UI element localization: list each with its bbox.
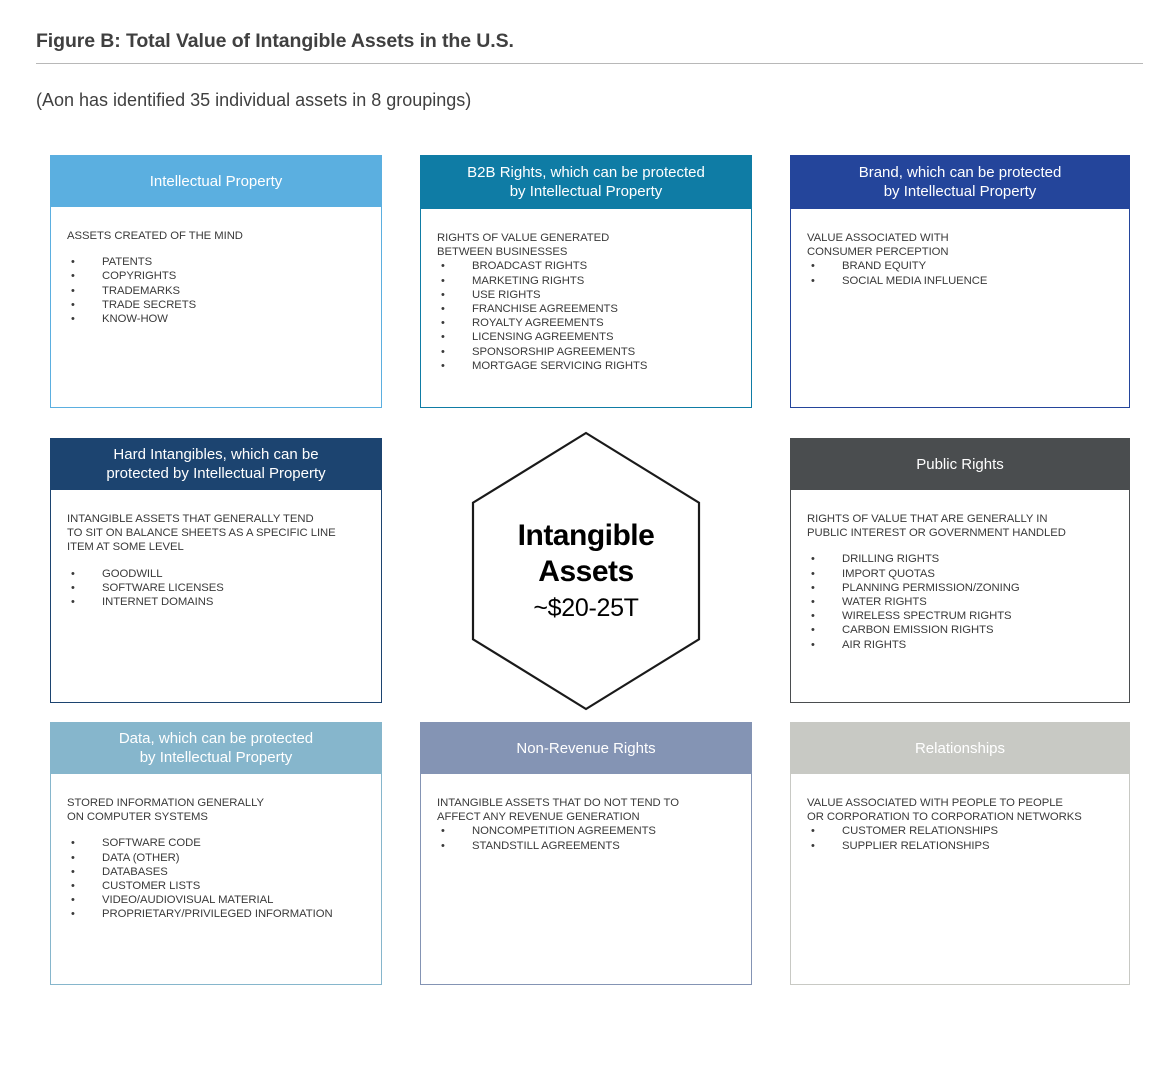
list-item-label: DATABASES <box>102 866 168 878</box>
list-item: •DATA (OTHER) <box>67 851 381 865</box>
center-label-line1: Intangible <box>518 518 655 554</box>
box-body: ASSETS CREATED OF THE MIND •PATENTS•COPY… <box>51 207 381 407</box>
bullet-icon: • <box>441 316 445 330</box>
list-item: •TRADE SECRETS <box>67 298 381 312</box>
grid-cell-7: Data, which can be protectedby Intellect… <box>50 722 382 985</box>
list-item-label: DRILLING RIGHTS <box>842 553 939 565</box>
list-item: •CUSTOMER LISTS <box>67 879 381 893</box>
asset-box-relationships[interactable]: Relationships VALUE ASSOCIATED WITH PEOP… <box>790 722 1130 985</box>
list-item-label: CUSTOMER RELATIONSHIPS <box>842 825 998 837</box>
bullet-icon: • <box>71 567 75 581</box>
asset-box-b2b-rights[interactable]: B2B Rights, which can be protectedby Int… <box>420 155 752 408</box>
list-item-label: PROPRIETARY/PRIVILEGED INFORMATION <box>102 908 333 920</box>
list-item: •SOFTWARE CODE <box>67 836 381 850</box>
list-item: •NONCOMPETITION AGREEMENTS <box>437 824 751 838</box>
grid-cell-4: Hard Intangibles, which can beprotected … <box>50 438 382 703</box>
box-description: VALUE ASSOCIATED WITH PEOPLE TO PEOPLE O… <box>807 796 1129 824</box>
list-item: •USE RIGHTS <box>437 288 751 302</box>
box-body: RIGHTS OF VALUE GENERATED BETWEEN BUSINE… <box>421 209 751 407</box>
box-header: Data, which can be protectedby Intellect… <box>51 723 381 774</box>
bullet-icon: • <box>811 824 815 838</box>
box-description: RIGHTS OF VALUE GENERATED BETWEEN BUSINE… <box>437 231 751 259</box>
list-item: •FRANCHISE AGREEMENTS <box>437 302 751 316</box>
list-item-label: GOODWILL <box>102 568 163 580</box>
box-description: ASSETS CREATED OF THE MIND <box>67 229 381 243</box>
list-item-label: ROYALTY AGREEMENTS <box>472 317 604 329</box>
bullet-icon: • <box>441 839 445 853</box>
bullet-icon: • <box>441 359 445 373</box>
list-item-label: TRADE SECRETS <box>102 299 196 311</box>
bullet-icon: • <box>441 274 445 288</box>
bullet-icon: • <box>71 581 75 595</box>
list-item-label: MARKETING RIGHTS <box>472 275 584 287</box>
box-description: INTANGIBLE ASSETS THAT GENERALLY TEND TO… <box>67 512 381 555</box>
list-item-label: IMPORT QUOTAS <box>842 568 935 580</box>
box-item-list: •SOFTWARE CODE•DATA (OTHER)•DATABASES•CU… <box>67 836 381 921</box>
bullet-icon: • <box>811 259 815 273</box>
box-description: INTANGIBLE ASSETS THAT DO NOT TEND TO AF… <box>437 796 751 824</box>
box-item-list: •BROADCAST RIGHTS•MARKETING RIGHTS•USE R… <box>437 259 751 373</box>
grid-cell-3: Brand, which can be protectedby Intellec… <box>790 155 1130 408</box>
grid-cell-9: Relationships VALUE ASSOCIATED WITH PEOP… <box>790 722 1130 985</box>
bullet-icon: • <box>811 839 815 853</box>
bullet-icon: • <box>811 609 815 623</box>
list-item: •WATER RIGHTS <box>807 595 1129 609</box>
list-item: •VIDEO/AUDIOVISUAL MATERIAL <box>67 893 381 907</box>
box-item-list: •PATENTS•COPYRIGHTS•TRADEMARKS•TRADE SEC… <box>67 255 381 326</box>
list-item: •SPONSORSHIP AGREEMENTS <box>437 345 751 359</box>
list-item: •PROPRIETARY/PRIVILEGED INFORMATION <box>67 907 381 921</box>
box-title: Intellectual Property <box>150 172 283 191</box>
bullet-icon: • <box>71 865 75 879</box>
list-item-label: PLANNING PERMISSION/ZONING <box>842 582 1020 594</box>
bullet-icon: • <box>441 302 445 316</box>
list-item: •STANDSTILL AGREEMENTS <box>437 839 751 853</box>
box-title: Relationships <box>915 739 1005 758</box>
asset-box-intellectual-property[interactable]: Intellectual Property ASSETS CREATED OF … <box>50 155 382 408</box>
box-header: Public Rights <box>791 439 1129 490</box>
bullet-icon: • <box>811 581 815 595</box>
page-subtitle: (Aon has identified 35 individual assets… <box>36 90 1141 111</box>
bullet-icon: • <box>71 595 75 609</box>
box-item-list: •NONCOMPETITION AGREEMENTS•STANDSTILL AG… <box>437 824 751 852</box>
asset-box-hard-intangibles[interactable]: Hard Intangibles, which can beprotected … <box>50 438 382 703</box>
bullet-icon: • <box>811 638 815 652</box>
bullet-icon: • <box>441 288 445 302</box>
box-description: RIGHTS OF VALUE THAT ARE GENERALLY IN PU… <box>807 512 1129 540</box>
list-item: •BRAND EQUITY <box>807 259 1129 273</box>
box-title: Brand, which can be protectedby Intellec… <box>859 163 1062 201</box>
list-item: •COPYRIGHTS <box>67 269 381 283</box>
list-item: •CUSTOMER RELATIONSHIPS <box>807 824 1129 838</box>
box-item-list: •BRAND EQUITY•SOCIAL MEDIA INFLUENCE <box>807 259 1129 287</box>
list-item-label: INTERNET DOMAINS <box>102 596 213 608</box>
bullet-icon: • <box>811 623 815 637</box>
bullet-icon: • <box>71 255 75 269</box>
list-item: •PATENTS <box>67 255 381 269</box>
list-item-label: SOCIAL MEDIA INFLUENCE <box>842 275 987 287</box>
list-item-label: WATER RIGHTS <box>842 596 927 608</box>
list-item-label: USE RIGHTS <box>472 289 541 301</box>
grid-cell-center: Intangible Assets ~$20-25T <box>420 438 752 703</box>
grid-cell-1: Intellectual Property ASSETS CREATED OF … <box>50 155 382 408</box>
bullet-icon: • <box>441 824 445 838</box>
box-title: B2B Rights, which can be protectedby Int… <box>467 163 705 201</box>
list-item-label: MORTGAGE SERVICING RIGHTS <box>472 360 647 372</box>
bullet-icon: • <box>71 269 75 283</box>
list-item-label: BRAND EQUITY <box>842 260 926 272</box>
grid-cell-6: Public Rights RIGHTS OF VALUE THAT ARE G… <box>790 438 1130 703</box>
list-item-label: SUPPLIER RELATIONSHIPS <box>842 840 989 852</box>
box-header: Hard Intangibles, which can beprotected … <box>51 439 381 490</box>
list-item: •CARBON EMISSION RIGHTS <box>807 623 1129 637</box>
bullet-icon: • <box>811 595 815 609</box>
list-item-label: COPYRIGHTS <box>102 270 176 282</box>
list-item: •TRADEMARKS <box>67 284 381 298</box>
list-item-label: STANDSTILL AGREEMENTS <box>472 840 620 852</box>
center-value: ~$20-25T <box>533 592 638 624</box>
list-item: •GOODWILL <box>67 567 381 581</box>
bullet-icon: • <box>71 893 75 907</box>
box-header: Non-Revenue Rights <box>421 723 751 774</box>
box-title: Data, which can be protectedby Intellect… <box>119 729 313 767</box>
box-item-list: •GOODWILL•SOFTWARE LICENSES•INTERNET DOM… <box>67 567 381 610</box>
list-item-label: LICENSING AGREEMENTS <box>472 331 614 343</box>
list-item-label: SOFTWARE LICENSES <box>102 582 224 594</box>
asset-box-public-rights[interactable]: Public Rights RIGHTS OF VALUE THAT ARE G… <box>790 438 1130 703</box>
bullet-icon: • <box>441 345 445 359</box>
box-body: INTANGIBLE ASSETS THAT DO NOT TEND TO AF… <box>421 774 751 984</box>
list-item: •DRILLING RIGHTS <box>807 552 1129 566</box>
center-hexagon: Intangible Assets ~$20-25T <box>470 430 702 712</box>
box-header: Relationships <box>791 723 1129 774</box>
box-header: B2B Rights, which can be protectedby Int… <box>421 156 751 209</box>
box-title: Public Rights <box>916 455 1004 474</box>
bullet-icon: • <box>811 552 815 566</box>
bullet-icon: • <box>441 330 445 344</box>
asset-grid: Intellectual Property ASSETS CREATED OF … <box>50 155 1130 985</box>
bullet-icon: • <box>71 284 75 298</box>
list-item-label: CARBON EMISSION RIGHTS <box>842 624 993 636</box>
list-item-label: BROADCAST RIGHTS <box>472 260 587 272</box>
bullet-icon: • <box>71 298 75 312</box>
list-item-label: SPONSORSHIP AGREEMENTS <box>472 346 635 358</box>
bullet-icon: • <box>441 259 445 273</box>
list-item-label: WIRELESS SPECTRUM RIGHTS <box>842 610 1012 622</box>
bullet-icon: • <box>811 274 815 288</box>
list-item-label: FRANCHISE AGREEMENTS <box>472 303 618 315</box>
box-body: VALUE ASSOCIATED WITH PEOPLE TO PEOPLE O… <box>791 774 1129 984</box>
page-title: Figure B: Total Value of Intangible Asse… <box>36 30 1141 53</box>
list-item-label: NONCOMPETITION AGREEMENTS <box>472 825 656 837</box>
box-header: Intellectual Property <box>51 156 381 207</box>
box-description: VALUE ASSOCIATED WITH CONSUMER PERCEPTIO… <box>807 231 1129 259</box>
box-item-list: •CUSTOMER RELATIONSHIPS•SUPPLIER RELATIO… <box>807 824 1129 852</box>
figure-page: Figure B: Total Value of Intangible Asse… <box>0 0 1175 1065</box>
bullet-icon: • <box>811 567 815 581</box>
bullet-icon: • <box>71 851 75 865</box>
asset-box-data[interactable]: Data, which can be protectedby Intellect… <box>50 722 382 985</box>
list-item: •IMPORT QUOTAS <box>807 567 1129 581</box>
list-item: •AIR RIGHTS <box>807 638 1129 652</box>
title-divider <box>36 63 1143 64</box>
bullet-icon: • <box>71 836 75 850</box>
list-item: •LICENSING AGREEMENTS <box>437 330 751 344</box>
list-item: •MARKETING RIGHTS <box>437 274 751 288</box>
box-body: INTANGIBLE ASSETS THAT GENERALLY TEND TO… <box>51 490 381 702</box>
list-item-label: AIR RIGHTS <box>842 639 906 651</box>
list-item: •SUPPLIER RELATIONSHIPS <box>807 839 1129 853</box>
center-hexagon-text: Intangible Assets ~$20-25T <box>470 430 702 712</box>
list-item: •MORTGAGE SERVICING RIGHTS <box>437 359 751 373</box>
grid-cell-8: Non-Revenue Rights INTANGIBLE ASSETS THA… <box>420 722 752 985</box>
list-item-label: TRADEMARKS <box>102 285 180 297</box>
box-description: STORED INFORMATION GENERALLY ON COMPUTER… <box>67 796 381 824</box>
asset-box-brand[interactable]: Brand, which can be protectedby Intellec… <box>790 155 1130 408</box>
box-title: Non-Revenue Rights <box>516 739 655 758</box>
list-item: •KNOW-HOW <box>67 312 381 326</box>
box-header: Brand, which can be protectedby Intellec… <box>791 156 1129 209</box>
list-item: •WIRELESS SPECTRUM RIGHTS <box>807 609 1129 623</box>
list-item: •SOCIAL MEDIA INFLUENCE <box>807 274 1129 288</box>
bullet-icon: • <box>71 879 75 893</box>
center-label-line2: Assets <box>538 554 633 590</box>
box-title: Hard Intangibles, which can beprotected … <box>106 445 325 483</box>
box-body: STORED INFORMATION GENERALLY ON COMPUTER… <box>51 774 381 984</box>
list-item-label: DATA (OTHER) <box>102 852 179 864</box>
asset-box-non-revenue-rights[interactable]: Non-Revenue Rights INTANGIBLE ASSETS THA… <box>420 722 752 985</box>
list-item: •ROYALTY AGREEMENTS <box>437 316 751 330</box>
list-item: •SOFTWARE LICENSES <box>67 581 381 595</box>
list-item-label: VIDEO/AUDIOVISUAL MATERIAL <box>102 894 273 906</box>
box-body: RIGHTS OF VALUE THAT ARE GENERALLY IN PU… <box>791 490 1129 702</box>
list-item: •PLANNING PERMISSION/ZONING <box>807 581 1129 595</box>
list-item: •DATABASES <box>67 865 381 879</box>
grid-cell-2: B2B Rights, which can be protectedby Int… <box>420 155 752 408</box>
bullet-icon: • <box>71 312 75 326</box>
list-item-label: CUSTOMER LISTS <box>102 880 200 892</box>
list-item-label: PATENTS <box>102 256 152 268</box>
list-item: •BROADCAST RIGHTS <box>437 259 751 273</box>
box-body: VALUE ASSOCIATED WITH CONSUMER PERCEPTIO… <box>791 209 1129 407</box>
list-item-label: KNOW-HOW <box>102 313 168 325</box>
box-item-list: •DRILLING RIGHTS•IMPORT QUOTAS•PLANNING … <box>807 552 1129 651</box>
list-item: •INTERNET DOMAINS <box>67 595 381 609</box>
list-item-label: SOFTWARE CODE <box>102 837 201 849</box>
bullet-icon: • <box>71 907 75 921</box>
